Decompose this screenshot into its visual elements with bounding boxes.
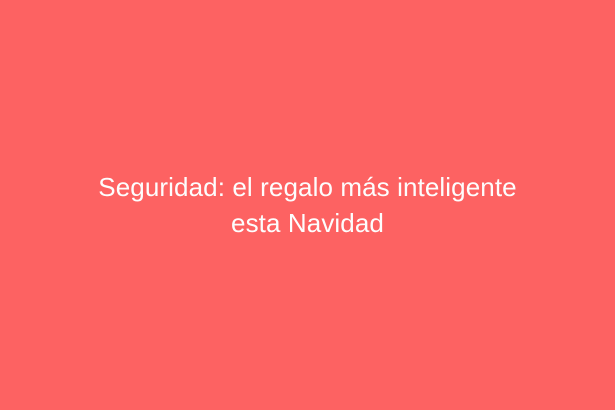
card-title: Seguridad: el regalo más inteligente est…: [72, 169, 544, 241]
featured-image-card[interactable]: Seguridad: el regalo más inteligente est…: [0, 0, 615, 410]
card-title-container: Seguridad: el regalo más inteligente est…: [72, 169, 544, 241]
